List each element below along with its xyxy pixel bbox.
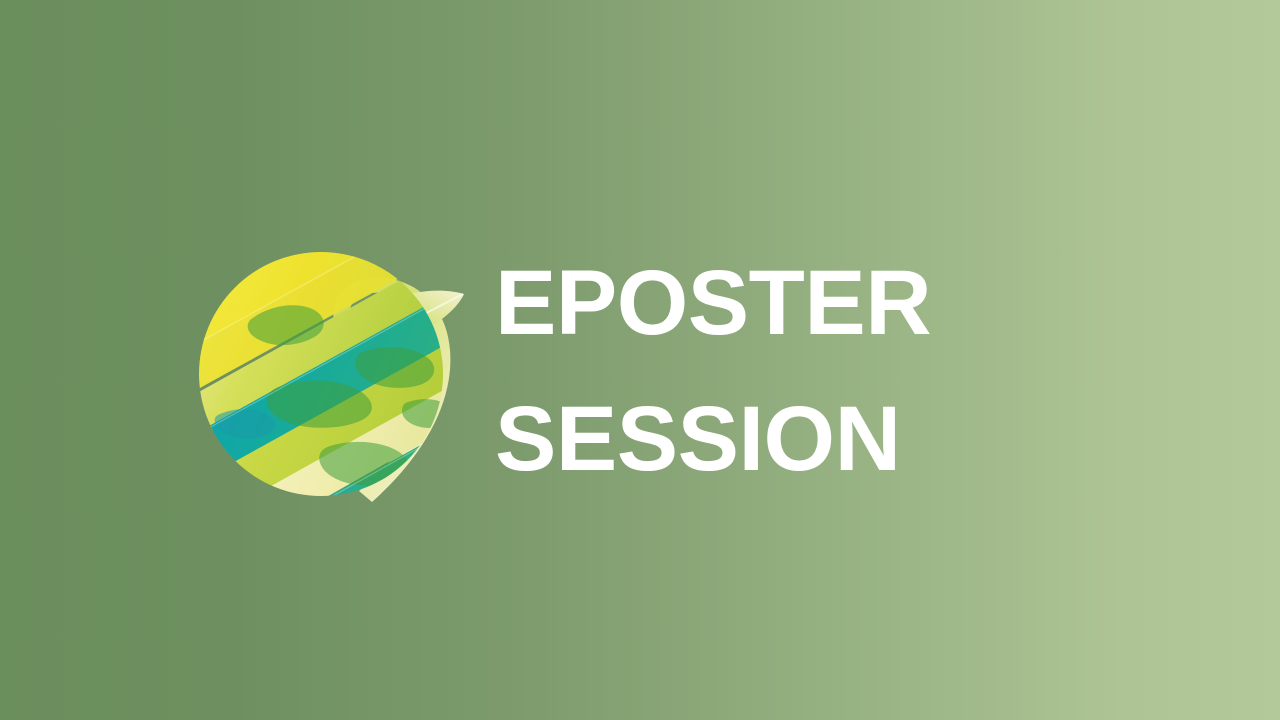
globe-ribbon-leaf-logo [176, 202, 476, 522]
title-line-session: SESSION [495, 371, 1135, 507]
wordmark: EPOSTER SESSION [495, 235, 1135, 507]
title-line-eposter: EPOSTER [495, 235, 1135, 371]
eposter-session-slide: EPOSTER SESSION [0, 0, 1280, 720]
